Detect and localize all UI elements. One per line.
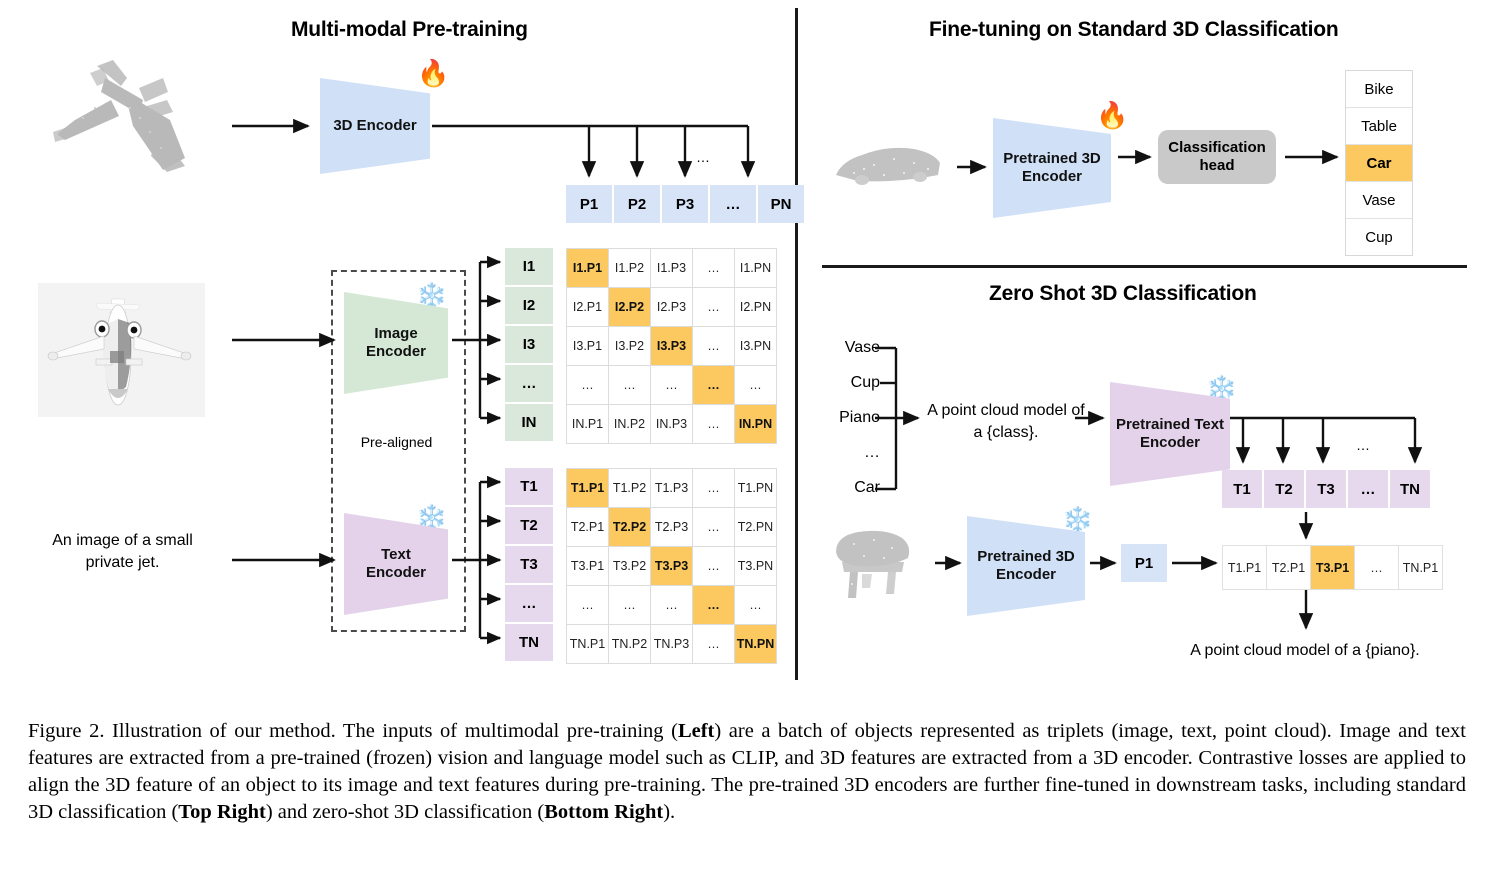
text-matrix-cell: T3.P2 [609,547,650,585]
image-matrix-cell: … [735,366,776,404]
text-matrix-cell: T2.P3 [651,508,692,546]
class-list-item-selected[interactable]: Car [1346,145,1412,182]
text-matrix-cell-highlighted: … [693,586,734,624]
zero-shot-similarity-cell: TN.P1 [1399,546,1442,589]
text-matrix-cell-highlighted: T3.P3 [651,547,692,585]
image-matrix-cell: … [693,405,734,443]
zero-shot-text-feature-cell: T2 [1264,470,1304,508]
encoder-image: Image Encoder [344,292,448,394]
fire-icon: 🔥 [417,60,449,86]
point-feature-row: P1P2P3…PN [566,185,804,223]
image-matrix-cell: … [693,288,734,326]
text-feature-column: T1T2T3…TN [505,468,553,661]
text-matrix-cell: TN.P1 [567,625,608,663]
image-matrix-cell: I1.P2 [609,249,650,287]
zero-shot-result: A point cloud model of a {piano}. [1180,640,1430,662]
encoder-text-label-2: Encoder [366,564,426,581]
pretrained-3d-encoder-zeroshot: Pretrained 3D Encoder [967,516,1085,616]
text-matrix-cell-highlighted: TN.PN [735,625,776,663]
text-matrix-cell: TN.P3 [651,625,692,663]
image-feature-column: I1I2I3…IN [505,248,553,441]
classification-head-label-2: head [1199,157,1234,174]
zero-shot-similarity-cell-highlighted: T3.P1 [1311,546,1354,589]
zero-shot-text-feature-cell: T1 [1222,470,1262,508]
zero-shot-row-ellipsis: … [1350,436,1376,455]
encoder-image-label-1: Image [374,325,417,342]
text-feature-cell: T1 [505,468,553,505]
image-matrix-cell-highlighted: I1.P1 [567,249,608,287]
zero-shot-similarity-cell: T1.P1 [1223,546,1266,589]
text-feature-cell: T2 [505,507,553,544]
text-matrix-cell: … [693,625,734,663]
class-list-item[interactable]: Cup [1346,219,1412,255]
zero-shot-text-feature-cell: … [1348,470,1388,508]
image-matrix-cell: I2.P3 [651,288,692,326]
text-matrix-cell-highlighted: T2.P2 [609,508,650,546]
encoder-3d-label: 3D Encoder [333,117,416,135]
image-matrix-cell: IN.P3 [651,405,692,443]
text-matrix-cell: … [735,586,776,624]
zero-shot-class-name: … [828,442,888,477]
text-feature-cell: T3 [505,546,553,583]
point-feature-cell: P3 [662,185,708,223]
class-list-item[interactable]: Bike [1346,71,1412,108]
pretrained-3d-encoder-zs-label-2: Encoder [996,566,1056,583]
image-matrix-cell: IN.P2 [609,405,650,443]
image-matrix-cell: … [651,366,692,404]
pre-aligned-label: Pre-aligned [331,433,462,452]
encoder-3d: 3D Encoder [320,78,430,174]
figure-caption: Figure 2. Illustration of our method. Th… [28,718,1466,826]
text-matrix-cell: T1.P2 [609,469,650,507]
zero-shot-text-feature-cell: TN [1390,470,1430,508]
class-list-item[interactable]: Table [1346,108,1412,145]
text-matrix-cell: T2.PN [735,508,776,546]
image-feature-cell: I3 [505,326,553,363]
left-panel-title: Multi-modal Pre-training [291,18,528,42]
image-feature-cell: I1 [505,248,553,285]
text-matrix-cell: … [567,586,608,624]
text-matrix-cell: … [609,586,650,624]
image-matrix-cell: … [609,366,650,404]
text-matrix-cell: T1.PN [735,469,776,507]
zero-shot-class-list: VaseCupPiano…Car [828,337,888,512]
image-matrix-cell: I3.P1 [567,327,608,365]
text-matrix-cell: T3.P1 [567,547,608,585]
airplane-point-cloud [35,48,220,193]
image-matrix-cell: I2.PN [735,288,776,326]
classification-head: Classification head [1158,130,1276,184]
classification-output-list: BikeTableCarVaseCup [1345,70,1413,256]
image-matrix-cell: I1.PN [735,249,776,287]
zero-shot-similarity-cell: … [1355,546,1398,589]
classification-head-label-1: Classification [1168,139,1266,156]
zero-shot-class-name: Car [828,477,888,512]
zero-shot-text-feature-cell: T3 [1306,470,1346,508]
encoder-image-label-2: Encoder [366,343,426,360]
zero-shot-prompt-line-1: A point cloud model of [927,402,1084,419]
car-point-cloud [828,135,948,195]
vertical-divider [795,8,798,680]
horizontal-divider [822,265,1467,268]
pretrained-3d-encoder-finetune: Pretrained 3D Encoder [993,118,1111,218]
image-matrix-cell-highlighted: … [693,366,734,404]
bottom-right-panel-title: Zero Shot 3D Classification [989,282,1257,306]
zero-shot-similarity-row: T1.P1T2.P1T3.P1…TN.P1 [1222,545,1443,590]
image-matrix-cell-highlighted: I3.P3 [651,327,692,365]
zero-shot-prompt-line-2: a {class}. [974,424,1039,441]
fire-icon: 🔥 [1096,102,1128,128]
image-matrix-cell-highlighted: IN.PN [735,405,776,443]
pretrained-text-encoder: Pretrained Text Encoder [1110,382,1230,486]
text-matrix-cell: … [693,469,734,507]
image-matrix-cell-highlighted: I2.P2 [609,288,650,326]
zero-shot-class-name: Piano [828,407,888,442]
image-matrix-cell: I3.PN [735,327,776,365]
image-feature-cell: IN [505,404,553,441]
top-right-panel-title: Fine-tuning on Standard 3D Classificatio… [929,18,1339,42]
zero-shot-class-name: Cup [828,372,888,407]
pretrained-3d-encoder-label-2: Encoder [1022,168,1082,185]
class-list-item[interactable]: Vase [1346,182,1412,219]
pretrained-3d-encoder-label-1: Pretrained 3D [1003,150,1101,167]
figure-root: Multi-modal Pre-training [0,0,1490,888]
text-feature-cell: TN [505,624,553,661]
text-matrix-cell-highlighted: T1.P1 [567,469,608,507]
zero-shot-text-feature-row: T1T2T3…TN [1222,470,1430,508]
point-feature-cell: … [710,185,756,223]
snowflake-icon: ❄️ [1062,508,1093,533]
image-point-similarity-matrix: I1.P1I1.P2I1.P3…I1.PNI2.P1I2.P2I2.P3…I2.… [566,248,777,444]
text-input-value: An image of a small private jet. [52,532,193,571]
text-matrix-cell: T1.P3 [651,469,692,507]
zero-shot-similarity-cell: T2.P1 [1267,546,1310,589]
image-matrix-cell: I3.P2 [609,327,650,365]
text-matrix-cell: T2.P1 [567,508,608,546]
zero-shot-prompt: A point cloud model of a {class}. [906,400,1106,443]
text-matrix-cell: … [693,508,734,546]
zero-shot-point-feature: P1 [1121,544,1167,582]
text-matrix-cell: … [693,547,734,585]
piano-point-cloud [828,518,923,606]
encoder-text-label-1: Text [381,546,411,563]
image-matrix-cell: I1.P3 [651,249,692,287]
point-row-ellipsis: … [690,148,716,167]
pretrained-3d-encoder-zs-label-1: Pretrained 3D [977,548,1075,565]
image-feature-cell: I2 [505,287,553,324]
text-matrix-cell: TN.P2 [609,625,650,663]
image-matrix-cell: … [567,366,608,404]
pretrained-text-encoder-label-2: Encoder [1140,434,1200,451]
image-matrix-cell: IN.P1 [567,405,608,443]
image-feature-cell: … [505,365,553,402]
image-matrix-cell: … [693,249,734,287]
zero-shot-point-feature-cell: P1 [1121,544,1167,582]
pretrained-text-encoder-label-1: Pretrained Text [1116,416,1224,433]
encoder-text: Text Encoder [344,513,448,615]
text-point-similarity-matrix: T1.P1T1.P2T1.P3…T1.PNT2.P1T2.P2T2.P3…T2.… [566,468,777,664]
text-matrix-cell: T3.PN [735,547,776,585]
point-feature-cell: P2 [614,185,660,223]
text-input-caption: An image of a small private jet. [30,530,215,573]
image-matrix-cell: I2.P1 [567,288,608,326]
text-matrix-cell: … [651,586,692,624]
zero-shot-class-name: Vase [828,337,888,372]
point-feature-cell: P1 [566,185,612,223]
image-matrix-cell: … [693,327,734,365]
private-jet-image [38,283,205,417]
point-feature-cell: PN [758,185,804,223]
text-feature-cell: … [505,585,553,622]
